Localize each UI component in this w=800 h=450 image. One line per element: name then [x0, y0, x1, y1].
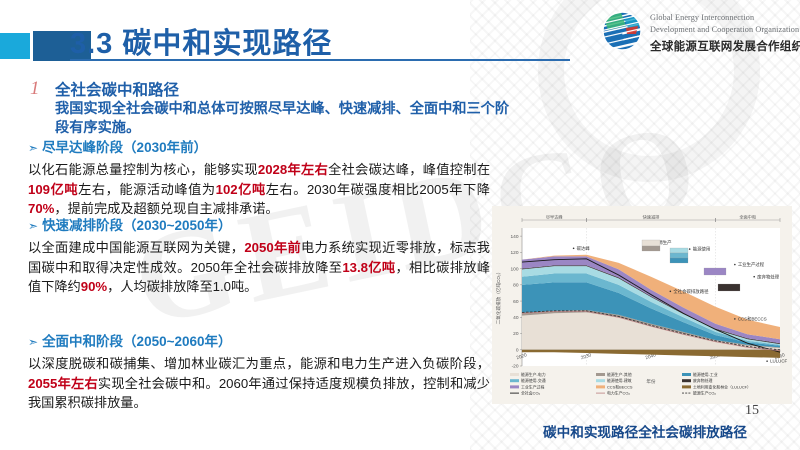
globe-icon	[600, 10, 644, 54]
chart-annotation-3: LULUCF	[770, 359, 787, 364]
x-axis-label: 年份	[646, 378, 656, 385]
highlighted-figure: 2028年左右	[258, 162, 328, 177]
highlighted-figure: 13.8亿吨	[342, 260, 395, 275]
phase-paragraph-2: 以深度脱碳和碳捕集、增加林业碳汇为重点，能源和电力生产进入负碳阶段，2055年左…	[28, 354, 490, 413]
inline-key-swatch-1	[642, 246, 660, 251]
header-accent-square-cyan	[0, 33, 30, 59]
phase-title-text-0: 尽早达峰阶段（2030年前）	[42, 140, 207, 155]
phase-band-label-1: 快速减排	[643, 214, 661, 221]
phase-block-2: ➣全面中和阶段（2050~2060年） 以深度脱碳和碳捕集、增加林业碳汇为重点，…	[28, 330, 490, 413]
title-underline	[70, 59, 570, 61]
legend-swatch-0	[510, 373, 519, 376]
phase-paragraph-1: 以全面建成中国能源互联网为关键，2050年前电力系统实现近零排放，标志我国碳中和…	[28, 238, 490, 297]
figure-caption: 碳中和实现路径全社会碳排放路径	[500, 421, 790, 441]
inline-key-swatch-2	[670, 248, 688, 253]
inline-key-swatch-3	[670, 253, 688, 258]
phase-band-label-0: 尽早达峰	[546, 214, 564, 221]
phase-title-2: ➣全面中和阶段（2050~2060年）	[28, 330, 490, 350]
y-tick-label: 100	[510, 266, 518, 272]
organization-logo: Global Energy Interconnection Developmen…	[600, 8, 795, 60]
chart-annotation-2: CCS和BECCS	[738, 316, 767, 323]
phase-title-text-2: 全面中和阶段（2050~2060年）	[42, 334, 231, 349]
y-tick-label: 120	[510, 250, 518, 256]
highlighted-figure: 90%	[81, 279, 107, 294]
inline-key-swatch-5	[704, 268, 726, 275]
legend-label-6: 工业生产过程	[521, 384, 544, 389]
inline-key-swatch-0	[642, 240, 660, 246]
page-number: 15	[745, 403, 759, 419]
legend-swatch-5	[682, 379, 691, 382]
slide-header: 3.3 碳中和实现路径	[0, 0, 800, 70]
inline-key-swatch-6	[718, 284, 740, 291]
y-tick-label: 20	[513, 331, 519, 337]
logo-english-line-2: Development and Cooperation Organization	[650, 25, 799, 34]
phase-title-0: ➣尽早达峰阶段（2030年前）	[28, 136, 490, 156]
legend-label-0: 能源生产-电力	[521, 372, 546, 377]
arrow-bullet-icon: ➣	[28, 335, 38, 349]
y-axis-label: 二氧化碳排放（亿吨CO₂）	[495, 270, 502, 325]
legend-swatch-7	[596, 385, 605, 388]
chart-annotation-1: 全社会碳排放路径	[673, 288, 709, 295]
legend-label-10: 电力生产CO₂	[607, 391, 630, 396]
y-tick-label: 0	[516, 347, 519, 353]
highlighted-figure: 102亿吨	[216, 182, 266, 197]
phase-title-1: ➣快速减排阶段（2030~2050年）	[28, 214, 490, 234]
section-lead-text: 我国实现全社会碳中和总体可按照尽早达峰、快速减排、全面中和三个阶段有序实施。	[55, 100, 510, 138]
phase-block-1: ➣快速减排阶段（2030~2050年） 以全面建成中国能源互联网为关键，2050…	[28, 214, 490, 297]
arrow-bullet-icon: ➣	[28, 219, 38, 233]
emission-pathway-chart: 尽早达峰快速减排全面中和-200204060801001201402020203…	[492, 206, 792, 404]
legend-swatch-8	[682, 385, 691, 388]
y-tick-label: 60	[513, 299, 519, 305]
legend-swatch-2	[682, 373, 691, 376]
highlighted-figure: 2055年左右	[28, 376, 98, 391]
legend-label-11: 能源生产CO₂	[693, 391, 716, 396]
highlighted-figure: 2050年前	[244, 240, 301, 255]
phase-title-text-1: 快速减排阶段（2030~2050年）	[42, 218, 231, 233]
page-title: 3.3 碳中和实现路径	[70, 20, 332, 62]
legend-label-7: CCS和BECCS	[607, 384, 633, 389]
legend-label-1: 能源生产-其他	[607, 372, 632, 377]
y-tick-label: 140	[510, 234, 518, 240]
y-tick-label: 80	[513, 283, 519, 289]
arrow-bullet-icon: ➣	[28, 141, 38, 155]
chart-annotation-7: 废弃物处理	[757, 273, 780, 280]
phase-paragraph-0: 以化石能源总量控制为核心，能够实现2028年左右全社会碳达峰，峰值控制在109亿…	[28, 160, 490, 219]
phase-band-label-2: 全面中和	[739, 214, 756, 221]
chart-canvas: 尽早达峰快速减排全面中和-200204060801001201402020203…	[492, 206, 792, 404]
legend-swatch-3	[510, 379, 519, 382]
legend-label-3: 能源使用-交通	[521, 378, 546, 383]
inline-key-swatch-4	[670, 258, 688, 263]
legend-swatch-4	[596, 379, 605, 382]
legend-label-9: 全社会CO₂	[521, 391, 541, 396]
legend-label-5: 废弃物处理	[693, 378, 713, 383]
legend-label-8: 土地利用变化和林业（LULUCF）	[693, 384, 751, 389]
legend-swatch-1	[596, 373, 605, 376]
y-tick-label: 40	[513, 315, 519, 321]
section-heading: 全社会碳中和路径	[55, 78, 179, 100]
logo-chinese-name: 全球能源互联网发展合作组织	[650, 38, 800, 54]
logo-english-line-1: Global Energy Interconnection	[650, 13, 754, 22]
phase-block-0: ➣尽早达峰阶段（2030年前） 以化石能源总量控制为核心，能够实现2028年左右…	[28, 136, 490, 219]
legend-swatch-6	[510, 385, 519, 388]
chart-annotation-6: 工业生产过程	[738, 261, 765, 268]
legend-label-2: 能源使用-工业	[693, 372, 718, 377]
chart-annotation-5: 能源使用	[693, 246, 711, 253]
y-tick-label: -20	[512, 364, 519, 370]
chart-annotation-0: 碳达峰	[577, 245, 591, 252]
item-number: 1	[30, 78, 40, 100]
legend-label-4: 能源使用-建筑	[607, 378, 632, 383]
highlighted-figure: 109亿吨	[28, 182, 78, 197]
